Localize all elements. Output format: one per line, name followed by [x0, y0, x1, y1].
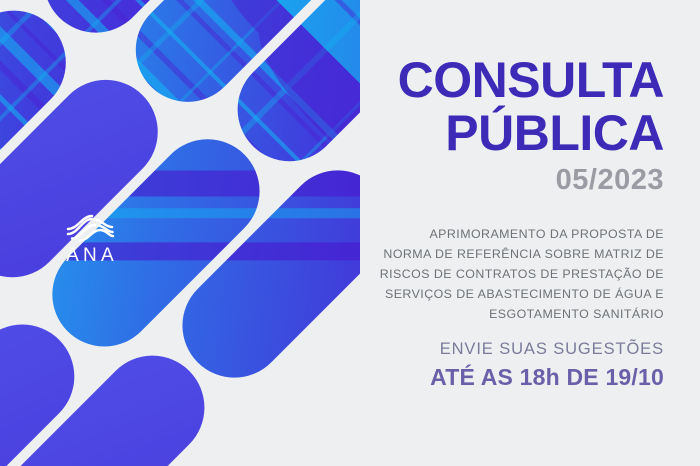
subject-line: SERVIÇOS DE ABASTECIMENTO DE ÁGUA E [362, 284, 664, 304]
poster-canvas: ANA CONSULTA PÚBLICA 05/2023 APRIMORAMEN… [0, 0, 700, 466]
subject-line: RISCOS DE CONTRATOS DE PRESTAÇÃO DE [362, 264, 664, 284]
subject-line: APRIMORAMENTO DA PROPOSTA DE [362, 224, 664, 244]
diagonal-stripes-graphic [0, 0, 360, 466]
cta-deadline-text: ATÉ AS 18h DE 19/10 [362, 364, 664, 391]
title-line-2: PÚBLICA [364, 109, 664, 158]
edition-number: 05/2023 [364, 164, 664, 197]
content-column: CONSULTA PÚBLICA 05/2023 APRIMORAMENTO D… [352, 0, 700, 466]
title-block: CONSULTA PÚBLICA 05/2023 [364, 56, 664, 197]
decorative-graphic-panel: ANA [0, 0, 360, 466]
subject-line: NORMA DE REFERÊNCIA SOBRE MATRIZ DE [362, 244, 664, 264]
cta-invitation-text: ENVIE SUAS SUGESTÕES [362, 340, 664, 359]
title-line-1: CONSULTA [364, 56, 664, 105]
subject-line: ESGOTAMENTO SANITÁRIO [362, 304, 664, 324]
call-to-action-block: ENVIE SUAS SUGESTÕES ATÉ AS 18h DE 19/10 [362, 340, 664, 391]
subject-description: APRIMORAMENTO DA PROPOSTA DE NORMA DE RE… [362, 224, 664, 324]
